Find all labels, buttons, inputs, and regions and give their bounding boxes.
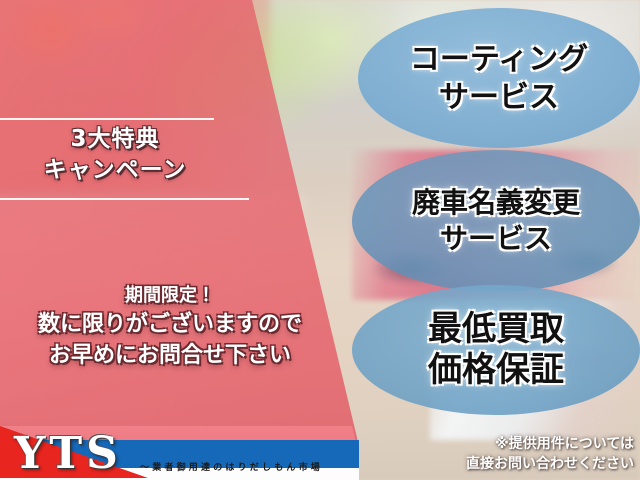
benefit-bubble-coating-service: コーティング サービス (358, 8, 640, 148)
footnote-line-2: 直接お問い合わせください (466, 455, 634, 474)
campaign-headline: 3大特典 キャンペーン (0, 126, 230, 184)
headline-line-1: 3大特典 (0, 126, 230, 153)
benefit-bubble-scrap-car-name-change-service: 廃車名義変更 サービス (352, 150, 640, 292)
promo-line-2: 数に限りがございますので (0, 310, 340, 339)
headline-divider-top (0, 118, 214, 120)
headline-divider-bottom (0, 198, 249, 200)
promo-line-3: お早めにお問合せ下さい (0, 341, 340, 370)
bubble-2-line-1: 廃車名義変更 (412, 188, 580, 219)
campaign-banner: 3大特典 キャンペーン 期間限定！ 数に限りがございますので お早めにお問合せ下… (0, 0, 640, 480)
bubble-2-line-2: サービス (440, 224, 552, 255)
bubble-1-line-2: サービス (439, 81, 559, 114)
bubble-3-line-2: 価格保証 (428, 352, 564, 389)
logo-tagline: 〜業者御用達のはりだしもん市場 (140, 458, 365, 478)
footnote-line-1: ※提供用件については (466, 435, 634, 454)
promo-text-block: 期間限定！ 数に限りがございますので お早めにお問合せ下さい (0, 284, 340, 370)
headline-line-2: キャンペーン (0, 157, 230, 184)
benefit-bubble-lowest-price-guarantee: 最低買取 価格保証 (352, 285, 640, 415)
footnote-disclaimer: ※提供用件については 直接お問い合わせください (466, 435, 634, 474)
bubble-3-line-1: 最低買取 (428, 311, 564, 348)
promo-line-1: 期間限定！ (0, 284, 340, 308)
bubble-1-line-1: コーティング (410, 43, 588, 76)
